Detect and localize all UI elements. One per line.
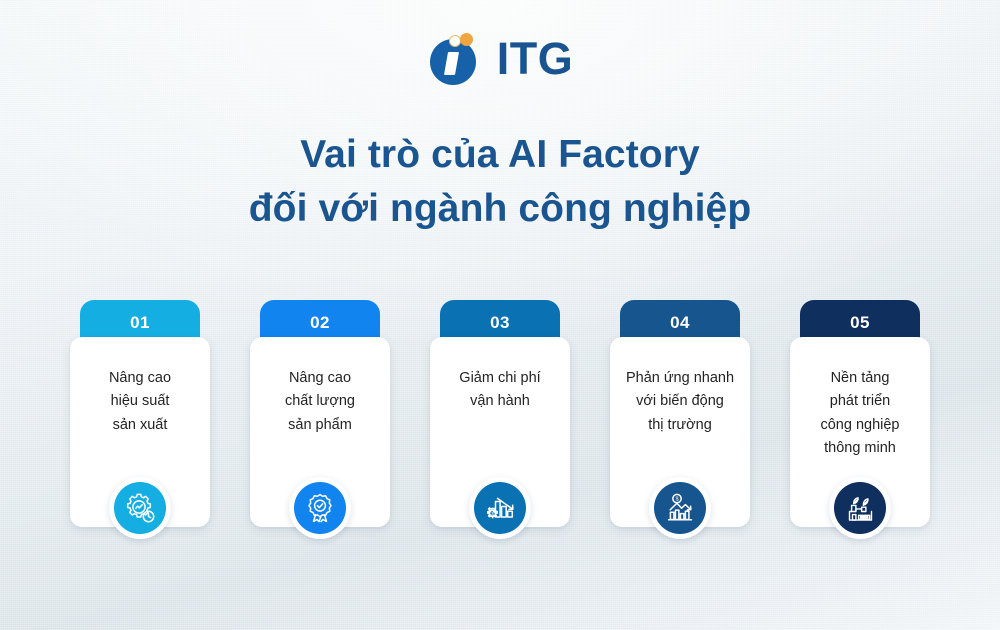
itg-logo-icon (427, 30, 483, 86)
gear-performance-chart-icon (114, 482, 166, 534)
cost-reduction-chart-icon: $ (474, 482, 526, 534)
card-icon-badge: $ (469, 477, 531, 539)
brand-logo: ITG (0, 30, 1000, 86)
logo-dot-white-icon (449, 35, 461, 47)
card-02[interactable]: 02 Nâng cao chất lượng sản phẩm (250, 300, 390, 570)
page-title-line-2: đối với ngành công nghiệp (0, 182, 1000, 236)
card-list: 01 Nâng cao hiệu suất sản xuất 02 Nâng c… (70, 300, 930, 570)
card-icon-badge (109, 477, 171, 539)
market-volatility-chart-icon: $ (654, 482, 706, 534)
card-icon-badge (289, 477, 351, 539)
quality-award-badge-icon (294, 482, 346, 534)
card-text: Nâng cao chất lượng sản phẩm (285, 367, 355, 437)
card-text: Nâng cao hiệu suất sản xuất (109, 367, 171, 437)
card-text: Nền tảng phát triển công nghiệp thông mi… (820, 367, 899, 461)
card-icon-badge (829, 477, 891, 539)
page-title: Vai trò của AI Factory đối với ngành côn… (0, 128, 1000, 236)
card-icon-badge: $ (649, 477, 711, 539)
card-03[interactable]: 03 Giảm chi phí vận hành $ (430, 300, 570, 570)
card-04[interactable]: 04 Phản ứng nhanh với biến động thị trườ… (610, 300, 750, 570)
card-text: Phản ứng nhanh với biến động thị trường (626, 367, 734, 437)
card-01[interactable]: 01 Nâng cao hiệu suất sản xuất (70, 300, 210, 570)
green-smart-factory-icon (834, 482, 886, 534)
svg-text:$: $ (675, 496, 679, 502)
page-title-line-1: Vai trò của AI Factory (300, 133, 700, 176)
logo-dot-orange-icon (460, 33, 473, 46)
brand-name: ITG (497, 36, 574, 81)
card-text: Giảm chi phí vận hành (459, 367, 540, 414)
card-05[interactable]: 05 Nền tảng phát triển công nghiệp thông… (790, 300, 930, 570)
